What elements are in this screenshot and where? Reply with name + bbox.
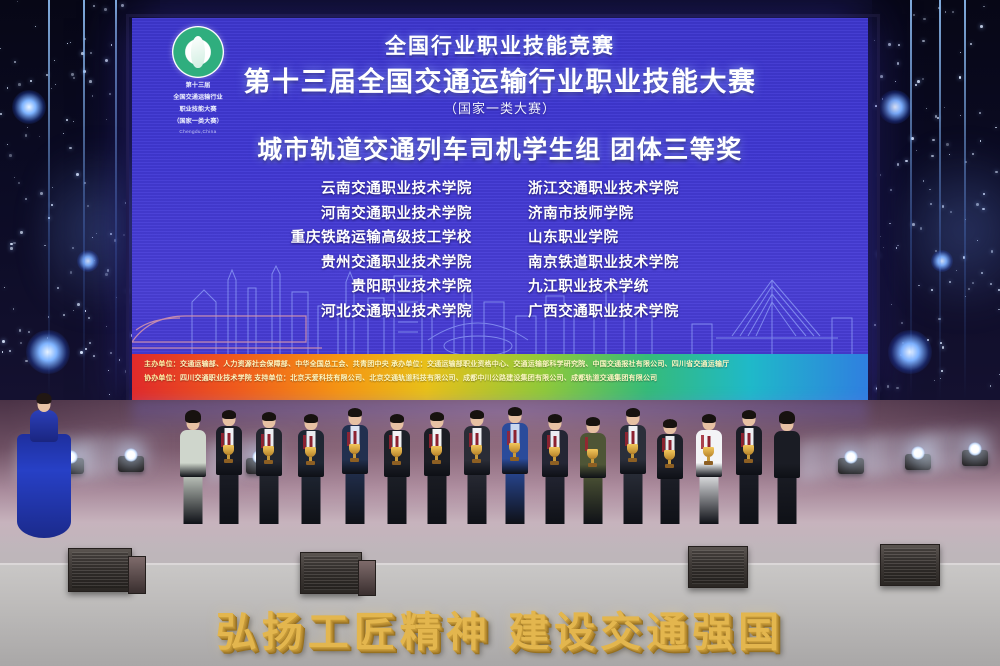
sponsor-line-1-label: 主办单位： xyxy=(144,361,180,368)
trophy-3 xyxy=(263,446,275,464)
star-dot xyxy=(73,121,74,122)
star-dot xyxy=(889,223,891,225)
star-dot xyxy=(109,93,111,95)
trophy-2 xyxy=(223,445,235,463)
awardee-hair xyxy=(430,412,444,421)
awardee-hair xyxy=(470,410,484,419)
trophy-base xyxy=(550,461,559,465)
awardee-2 xyxy=(214,402,244,524)
star-dot xyxy=(89,342,91,344)
stage-monitor-2 xyxy=(300,552,362,594)
star-dot xyxy=(54,60,55,61)
trophy-base xyxy=(704,461,713,465)
stage-monitor-3 xyxy=(688,546,748,588)
star-dot xyxy=(897,245,898,246)
star-dot xyxy=(66,119,68,121)
trophy-base xyxy=(472,459,481,463)
awardee-hair xyxy=(262,412,276,421)
led-screen: 第十三届 全国交通运输行业 职业技能大赛 （国家一类大赛） Chengdu,Ch… xyxy=(132,18,868,400)
star-dot xyxy=(0,113,2,115)
winner-school-left-1: 云南交通职业技术学院 xyxy=(222,178,472,201)
star-dot xyxy=(941,370,942,371)
trophy-5 xyxy=(349,444,361,462)
awardee-hair xyxy=(508,407,522,416)
star-dot xyxy=(897,163,900,166)
star-dot xyxy=(39,136,40,137)
star-dot xyxy=(111,44,112,45)
awardee-legs xyxy=(700,470,719,524)
host-presenter xyxy=(14,388,74,538)
star-dot xyxy=(67,43,68,44)
trophy-base xyxy=(224,459,233,463)
trophy-11 xyxy=(587,449,599,467)
light-lens-2 xyxy=(124,448,138,462)
winner-school-left-4: 贵州交通职业技术学院 xyxy=(222,252,472,275)
awardee-legs xyxy=(260,469,279,524)
awardee-legs xyxy=(220,468,239,524)
star-dot xyxy=(19,329,21,331)
awardee-legs xyxy=(302,470,321,524)
star-dot xyxy=(93,5,95,7)
trophy-base xyxy=(264,460,273,464)
star-dot xyxy=(71,73,73,75)
star-dot xyxy=(896,247,898,249)
awardee-hair xyxy=(702,414,716,423)
winner-school-right-5: 九江职业技术学统 xyxy=(528,276,778,299)
star-dot xyxy=(109,394,110,395)
award-heading: 城市轨道交通列车司机学生组 团体三等奖 xyxy=(132,130,868,166)
star-dot xyxy=(28,331,30,333)
star-dot xyxy=(979,112,981,114)
star-dot xyxy=(70,42,71,43)
star-dot xyxy=(13,308,15,310)
trophy-13 xyxy=(664,450,676,468)
star-dot xyxy=(891,304,892,305)
star-dot xyxy=(995,127,996,128)
star-dot xyxy=(926,108,927,109)
star-dot xyxy=(63,133,64,134)
event-photo-scene: 第十三届 全国交通运输行业 职业技能大赛 （国家一类大赛） Chengdu,Ch… xyxy=(0,0,1000,666)
awardee-hair xyxy=(348,408,362,417)
star-dot xyxy=(73,77,75,79)
awardee-hair xyxy=(185,410,201,423)
trophy-base xyxy=(392,461,401,465)
star-dot xyxy=(942,346,944,348)
winner-school-left-3: 重庆铁路运输高级技工学校 xyxy=(222,227,472,250)
trophy-cup xyxy=(664,450,675,460)
trophy-4 xyxy=(305,447,317,465)
awardee-3 xyxy=(254,404,284,524)
awardee-6 xyxy=(382,406,412,524)
star-dot xyxy=(887,385,890,388)
star-dot xyxy=(945,11,946,12)
winner-school-right-6: 广西交通职业技术学院 xyxy=(528,301,778,324)
awardee-12 xyxy=(618,400,648,524)
star-dot xyxy=(121,4,124,7)
winner-school-left-5: 贵阳职业技术学院 xyxy=(222,276,472,299)
star-dot xyxy=(890,189,892,191)
star-dot xyxy=(934,380,936,382)
star-dot xyxy=(27,127,28,128)
trophy-base xyxy=(350,458,359,462)
awardee-legs xyxy=(624,467,643,524)
awardee-4 xyxy=(296,406,326,524)
awardee-hair xyxy=(586,417,600,426)
winner-school-right-4: 南京铁道职业技术学院 xyxy=(528,252,778,275)
light-glow xyxy=(878,90,912,124)
awardee-13 xyxy=(655,412,685,524)
trophy-base xyxy=(432,460,441,464)
star-dot xyxy=(917,80,920,83)
screen-title-main: 第十三届全国交通运输行业职业技能大赛 xyxy=(132,60,868,99)
winner-school-left-2: 河南交通职业技术学院 xyxy=(222,203,472,226)
awardee-hair xyxy=(548,414,562,423)
trophy-base xyxy=(510,457,519,461)
winner-school-right-1: 浙江交通职业技术学院 xyxy=(528,178,778,201)
star-dot xyxy=(92,95,94,97)
sponsor-line-2-text: 四川交通职业技术学院 支持单位：北京天爱科技有限公司、北京交通轨道科技有限公司、… xyxy=(180,375,657,382)
star-dot xyxy=(30,80,33,83)
awardee-legs xyxy=(740,468,759,524)
trophy-7 xyxy=(431,446,443,464)
awardee-legs xyxy=(546,470,565,524)
awardee-14 xyxy=(694,406,724,524)
star-dot xyxy=(89,80,92,83)
star-dot xyxy=(7,87,9,89)
awardee-hair xyxy=(222,410,236,419)
right-star-panel xyxy=(872,0,1000,400)
awardee-8 xyxy=(462,402,492,524)
star-dot xyxy=(944,107,945,108)
trophy-base xyxy=(665,464,674,468)
awardee-legs xyxy=(506,466,525,524)
star-dot xyxy=(110,352,112,354)
star-dot xyxy=(952,11,954,13)
awardee-hair xyxy=(663,419,677,428)
star-dot xyxy=(35,26,36,27)
trophy-cup xyxy=(703,447,714,457)
trophy-cup xyxy=(509,443,520,453)
trophy-6 xyxy=(391,447,403,465)
trophy-15 xyxy=(743,445,755,463)
trophy-cup xyxy=(263,446,274,456)
stage-slogan: 弘扬工匠精神 建设交通强国 xyxy=(0,598,1000,658)
star-dot xyxy=(905,160,907,162)
star-dot xyxy=(18,182,20,184)
star-dot xyxy=(20,231,22,233)
awardee-legs xyxy=(346,467,365,524)
winner-school-right-3: 山东职业学院 xyxy=(528,227,778,250)
trophy-10 xyxy=(549,447,561,465)
star-dot xyxy=(922,40,924,42)
stage-monitor-1 xyxy=(68,548,132,592)
star-dot xyxy=(105,59,108,62)
awardee-legs xyxy=(661,472,680,524)
awardee-legs xyxy=(428,469,447,524)
trophy-base xyxy=(306,461,315,465)
sponsor-band: 主办单位：交通运输部、人力资源社会保障部、中华全国总工会、共青团中央 承办单位：… xyxy=(132,354,868,400)
star-dot xyxy=(897,62,899,64)
star-dot xyxy=(20,342,22,344)
star-dot xyxy=(970,43,972,45)
trophy-12 xyxy=(627,444,639,462)
star-dot xyxy=(990,385,991,386)
star-dot xyxy=(960,115,961,116)
star-dot xyxy=(7,144,8,145)
trophy-cup xyxy=(743,445,754,455)
star-dot xyxy=(880,75,883,78)
trophy-cup xyxy=(627,444,638,454)
star-dot xyxy=(883,247,884,248)
star-dot xyxy=(10,247,12,249)
star-dot xyxy=(9,350,11,352)
awardee-9 xyxy=(500,398,530,524)
winners-columns: 云南交通职业技术学院河南交通职业技术学院重庆铁路运输高级技工学校贵州交通职业技术… xyxy=(132,178,868,323)
star-dot xyxy=(55,84,56,85)
logo-line-4: （国家一类大赛） xyxy=(162,118,234,126)
trophy-cup xyxy=(391,447,402,457)
star-dot xyxy=(13,242,15,244)
star-dot xyxy=(90,52,92,54)
star-dot xyxy=(106,119,107,120)
star-dot xyxy=(108,370,109,371)
star-dot xyxy=(923,18,925,20)
screen-title-top: 全国行业职业技能竞赛 xyxy=(132,30,868,60)
sponsor-line-2: 协办单位：四川交通职业技术学院 支持单位：北京天爱科技有限公司、北京交通轨道科技… xyxy=(144,374,657,385)
star-dot xyxy=(896,387,899,390)
awardee-hair xyxy=(626,408,640,417)
star-dot xyxy=(104,8,107,11)
star-dot xyxy=(14,61,16,63)
star-dot xyxy=(922,78,924,80)
star-dot xyxy=(980,25,983,28)
awardee-1 xyxy=(178,406,208,524)
light-glow xyxy=(12,90,46,124)
awardee-legs xyxy=(468,468,487,524)
star-dot xyxy=(80,351,83,354)
awardee-hair xyxy=(304,414,318,423)
light-lens-4 xyxy=(844,450,858,464)
awardee-hair xyxy=(779,411,795,424)
awardee-10 xyxy=(540,406,570,524)
star-dot xyxy=(119,359,120,360)
awardee-legs xyxy=(184,470,203,524)
trophy-cup xyxy=(349,444,360,454)
awardee-torso xyxy=(774,431,800,477)
star-dot xyxy=(9,154,12,157)
star-dot xyxy=(93,355,95,357)
trophy-base xyxy=(744,459,753,463)
awardee-hair xyxy=(390,414,404,423)
star-dot xyxy=(51,88,52,89)
star-dot xyxy=(17,1,18,2)
star-dot xyxy=(14,177,15,178)
trophy-8 xyxy=(471,445,483,463)
screen-title-sub: （国家一类大赛） xyxy=(132,98,868,117)
star-dot xyxy=(10,243,12,245)
star-dot xyxy=(960,52,961,53)
awardee-legs xyxy=(584,472,603,524)
winner-school-left-6: 河北交通职业技术学院 xyxy=(222,301,472,324)
sponsor-line-2-label: 协办单位： xyxy=(144,375,180,382)
trophy-cup xyxy=(471,445,482,455)
winner-school-right-2: 济南市技师学院 xyxy=(528,203,778,226)
awardee-15 xyxy=(734,402,764,524)
star-dot xyxy=(901,322,903,324)
awardee-legs xyxy=(778,471,797,524)
stage-monitor-4 xyxy=(880,544,940,586)
star-dot xyxy=(915,84,917,86)
stage-monitor-side-2 xyxy=(358,560,376,596)
star-dot xyxy=(898,44,900,46)
star-dot xyxy=(2,351,3,352)
star-dot xyxy=(888,43,891,46)
trophy-cup xyxy=(305,447,316,457)
awardee-hair xyxy=(742,410,756,419)
trophy-base xyxy=(628,458,637,462)
awardee-11 xyxy=(578,410,608,524)
sponsor-line-1: 主办单位：交通运输部、人力资源社会保障部、中华全国总工会、共青团中央 承办单位：… xyxy=(144,360,729,371)
sponsor-line-1-text: 交通运输部、人力资源社会保障部、中华全国总工会、共青团中央 承办单位：交通运输部… xyxy=(180,361,729,368)
host-bodice xyxy=(30,410,58,442)
winners-left-column: 云南交通职业技术学院河南交通职业技术学院重庆铁路运输高级技工学校贵州交通职业技术… xyxy=(222,178,472,323)
awardee-16 xyxy=(772,408,802,524)
trophy-14 xyxy=(703,447,715,465)
star-dot xyxy=(913,14,915,16)
trophy-base xyxy=(588,463,597,467)
haze xyxy=(904,120,1000,340)
star-dot xyxy=(4,287,5,288)
awardee-5 xyxy=(340,400,370,524)
host-gown xyxy=(17,434,71,538)
host-hair xyxy=(37,393,52,404)
awardee-torso xyxy=(180,430,206,477)
trophy-cup xyxy=(549,447,560,457)
star-dot xyxy=(916,150,917,151)
awardee-7 xyxy=(422,404,452,524)
star-dot xyxy=(0,48,1,49)
light-lens-6 xyxy=(968,442,982,456)
trophy-cup xyxy=(587,449,598,459)
winners-right-column: 浙江交通职业技术学院济南市技师学院山东职业学院南京铁道职业技术学院九江职业技术学… xyxy=(528,178,778,323)
star-dot xyxy=(25,198,27,200)
star-dot xyxy=(2,340,5,343)
awardee-legs xyxy=(388,470,407,524)
star-dot xyxy=(25,134,28,137)
star-dot xyxy=(959,76,961,78)
star-dot xyxy=(895,81,896,82)
star-dot xyxy=(18,83,21,86)
trophy-cup xyxy=(431,446,442,456)
stage-monitor-side-1 xyxy=(128,556,146,594)
trophy-9 xyxy=(509,443,521,461)
trophy-cup xyxy=(223,445,234,455)
star-dot xyxy=(983,6,985,8)
